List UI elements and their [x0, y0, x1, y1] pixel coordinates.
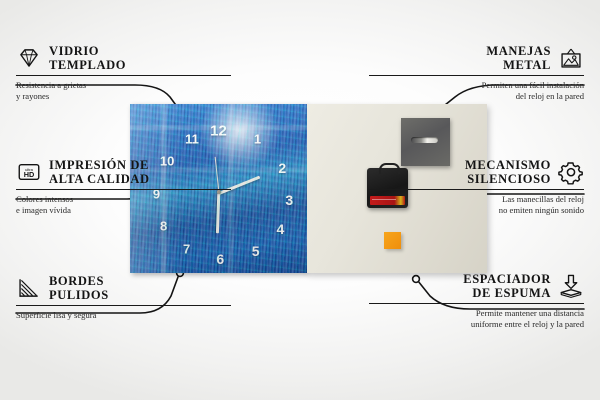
feature-title-line2: PULIDOS	[49, 288, 109, 302]
clock-numeral-1: 1	[254, 133, 261, 146]
feature-title-line1: VIDRIO	[49, 44, 126, 58]
ultra-hd-icon: ultra HD	[16, 159, 42, 185]
feature-subtitle-line2: uniforme entre el reloj y la pared	[369, 319, 584, 330]
feature-title-line1: ESPACIADOR	[369, 272, 551, 286]
feature-subtitle-line2: del reloj en la pared	[369, 91, 584, 102]
title-rule	[16, 189, 231, 190]
feature-title-line2: METAL	[369, 58, 551, 72]
feature-subtitle-line1: Permite mantener una distancia	[369, 308, 584, 319]
feature-subtitle-line1: Permiten una fácil instalación	[369, 80, 584, 91]
feature-subtitle-line1: Superficie lisa y segura	[16, 310, 231, 321]
feature-subtitle-line2: e imagen vívida	[16, 205, 231, 216]
clock-numeral-8: 8	[160, 219, 167, 232]
framed-picture-hanger-icon	[558, 45, 584, 71]
infographic-canvas: 12 1 2 3 4 5 6 7 8 9 10 11	[0, 0, 600, 400]
feature-subtitle-line2: y rayones	[16, 91, 231, 102]
clock-numeral-5: 5	[252, 244, 260, 258]
diamond-icon	[16, 45, 42, 71]
title-rule	[369, 189, 584, 190]
clock-numeral-2: 2	[278, 161, 286, 175]
feature-mecanismo-silencioso: MECANISMO SILENCIOSO Las manecillas del …	[369, 158, 584, 217]
foam-spacer-arrow-icon	[558, 273, 584, 299]
feature-bordes-pulidos: BORDES PULIDOS Superficie lisa y segura	[16, 274, 231, 321]
title-rule	[16, 305, 231, 306]
svg-text:HD: HD	[24, 170, 35, 179]
feature-title-line1: MECANISMO	[369, 158, 551, 172]
clock-numeral-12: 12	[210, 124, 227, 139]
feature-title-line2: TEMPLADO	[49, 58, 126, 72]
feature-title-line1: IMPRESIÓN DE	[49, 158, 150, 172]
gear-icon	[558, 159, 584, 185]
polished-edge-icon	[16, 275, 42, 301]
feature-subtitle-line2: no emiten ningún sonido	[369, 205, 584, 216]
clock-numeral-3: 3	[285, 193, 293, 207]
feature-impresion-alta-calidad: ultra HD IMPRESIÓN DE ALTA CALIDAD Color…	[16, 158, 231, 217]
feature-subtitle-line1: Las manecillas del reloj	[369, 194, 584, 205]
feature-manejas-metal: MANEJAS METAL Permiten una fácil instala…	[369, 44, 584, 103]
title-rule	[369, 303, 584, 304]
foam-spacer	[384, 232, 401, 249]
feature-title-line2: DE ESPUMA	[369, 286, 551, 300]
feature-title-line1: MANEJAS	[369, 44, 551, 58]
feature-subtitle-line1: Colores intensos	[16, 194, 231, 205]
clock-numeral-6: 6	[216, 252, 224, 266]
feature-subtitle-line1: Resistencia a grietas	[16, 80, 231, 91]
feature-espaciador-espuma: ESPACIADOR DE ESPUMA Permite mantener un…	[369, 272, 584, 331]
clock-numeral-11: 11	[185, 133, 199, 146]
feature-vidrio-templado: VIDRIO TEMPLADO Resistencia a grietas y …	[16, 44, 231, 103]
feature-title-line1: BORDES	[49, 274, 109, 288]
title-rule	[16, 75, 231, 76]
clock-numeral-7: 7	[183, 243, 190, 256]
title-rule	[369, 75, 584, 76]
clock-numeral-4: 4	[277, 222, 285, 236]
hanger-slot	[411, 137, 438, 143]
feature-title-line2: ALTA CALIDAD	[49, 172, 150, 186]
feature-title-line2: SILENCIOSO	[369, 172, 551, 186]
